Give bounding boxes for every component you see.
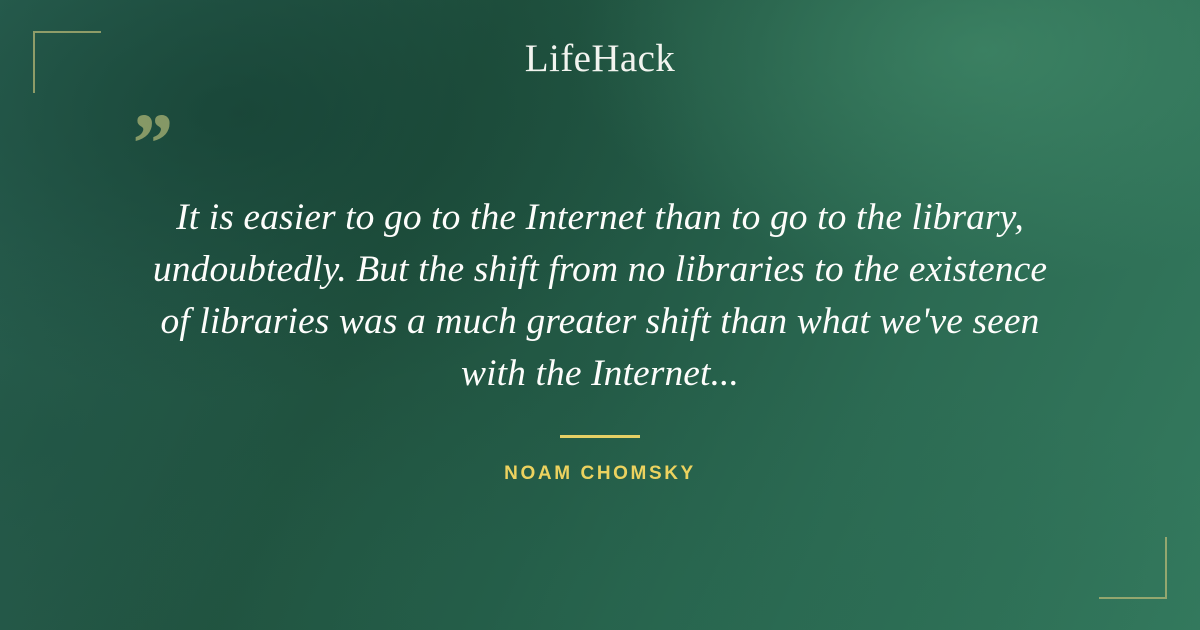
quote-card: LifeHack ” It is easier to go to the Int… [0,0,1200,630]
attribution-divider [560,435,640,438]
author-name: NOAM CHOMSKY [0,463,1200,485]
quote-line: undoubtedly. But the shift from no libra… [60,244,1140,296]
quote-line: It is easier to go to the Internet than … [60,192,1140,244]
quote-line: with the Internet... [60,348,1140,400]
quote-text: It is easier to go to the Internet than … [60,192,1140,400]
quotation-mark-icon: ” [128,100,171,186]
brand-logo: LifeHack [0,36,1200,81]
quote-line: of libraries was a much greater shift th… [60,296,1140,348]
